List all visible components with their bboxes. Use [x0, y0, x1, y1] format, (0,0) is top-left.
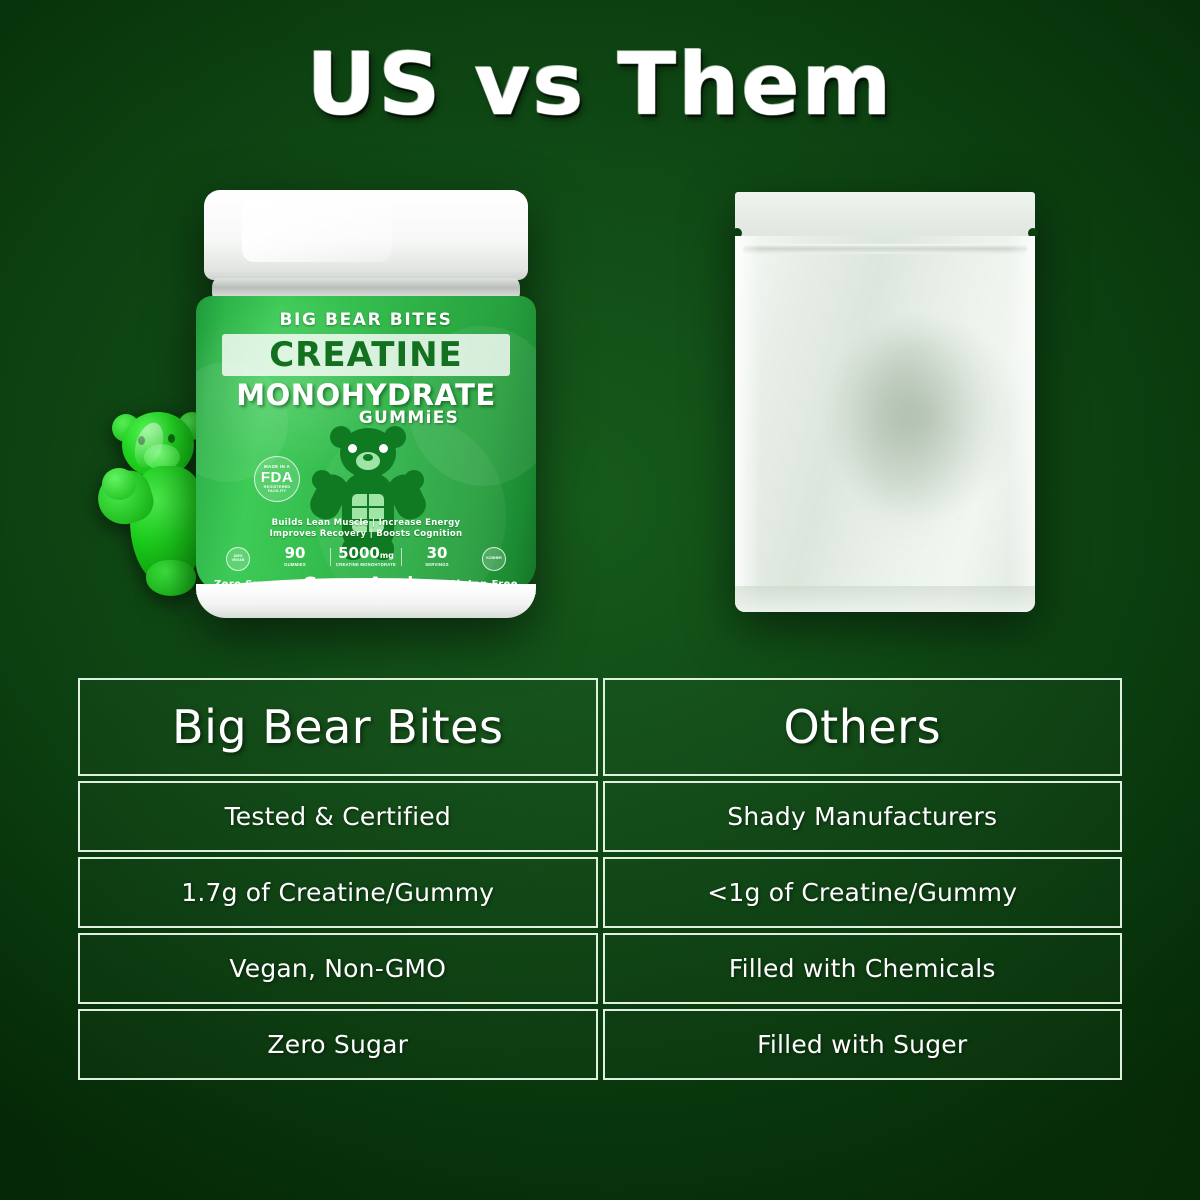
table-cell-us: Zero Sugar: [78, 1009, 598, 1080]
mascot-nose: [363, 454, 373, 461]
pouch-zipper: [743, 244, 1027, 254]
pouch-top-seal: [735, 192, 1035, 236]
gummy-fist: [102, 468, 136, 500]
mascot-eye-left: [348, 444, 357, 453]
spec-servings-caption: SERVINGS: [402, 562, 472, 567]
pouch-body: [735, 236, 1035, 612]
jar-claim-line-2: Improves Recovery | Boosts Cognition: [196, 529, 536, 540]
headline-container: US vs Them: [0, 42, 1200, 128]
table-cell-them: Filled with Suger: [603, 1009, 1123, 1080]
page-title: US vs Them: [307, 42, 894, 128]
table-cell-them: Filled with Chemicals: [603, 933, 1123, 1004]
kosher-badge-icon: KOSHER: [482, 547, 506, 571]
table-row: Zero Sugar Filled with Suger: [78, 1009, 1122, 1080]
table-cell-them: Shady Manufacturers: [603, 781, 1123, 852]
table-header-us: Big Bear Bites: [78, 678, 598, 776]
table-cell-us: 1.7g of Creatine/Gummy: [78, 857, 598, 928]
comparison-infographic: US vs Them B: [0, 0, 1200, 1200]
comparison-table: Big Bear Bites Others Tested & Certified…: [78, 678, 1122, 1082]
jar-gummies-word: GUMMiES: [196, 408, 536, 428]
spec-gummies-caption: GUMMIES: [260, 562, 330, 567]
table-row: 1.7g of Creatine/Gummy <1g of Creatine/G…: [78, 857, 1122, 928]
jar-base: [196, 584, 536, 618]
table-row: Tested & Certified Shady Manufacturers: [78, 781, 1122, 852]
spec-servings: 30 SERVINGS: [402, 546, 472, 567]
jar-claim-line-1: Builds Lean Muscle | Increase Energy: [196, 518, 536, 529]
table-header-them: Others: [603, 678, 1123, 776]
fda-badge-main: FDA: [261, 470, 293, 486]
pouch-edge-right: [1009, 236, 1035, 612]
pouch-edge-left: [735, 236, 761, 612]
pouch-bottom-gusset: [735, 586, 1035, 612]
spec-dose-caption: CREATINE MONOHYDRATE: [331, 562, 401, 567]
jar-label: BIG BEAR BITES CREATINE MONOHYDRATE GUMM…: [196, 296, 536, 592]
vegan-badge-icon: 100% VEGAN: [226, 547, 250, 571]
table-header-row: Big Bear Bites Others: [78, 678, 1122, 776]
jar-product-form: MONOHYDRATE: [196, 378, 536, 412]
table-cell-them: <1g of Creatine/Gummy: [603, 857, 1123, 928]
jar-product-name-band: CREATINE: [222, 334, 510, 376]
jar-lid-highlight: [242, 198, 392, 262]
jar-product-name: CREATINE: [269, 335, 463, 375]
spec-gummies: 90 GUMMIES: [260, 546, 330, 567]
jar-claims: Builds Lean Muscle | Increase Energy Imp…: [196, 518, 536, 541]
spec-dose-value: 5000mg: [331, 546, 401, 561]
mascot-fist-right: [404, 470, 424, 490]
pouch-shadow: [855, 336, 975, 536]
mascot-eye-right: [379, 444, 388, 453]
spec-gummies-value: 90: [260, 546, 330, 561]
mascot-fist-left: [312, 470, 332, 490]
jar-specs: 90 GUMMIES 5000mg CREATINE MONOHYDRATE 3…: [260, 546, 472, 567]
product-jar[interactable]: BIG BEAR BITES CREATINE MONOHYDRATE GUMM…: [186, 190, 546, 620]
table-cell-us: Tested & Certified: [78, 781, 598, 852]
fda-badge-icon: MADE IN A FDA REGISTERED FACILITY: [254, 456, 300, 502]
spec-dose: 5000mg CREATINE MONOHYDRATE: [331, 546, 401, 567]
gummy-eye-right: [168, 434, 175, 443]
jar-lid: [204, 190, 528, 280]
table-cell-us: Vegan, Non-GMO: [78, 933, 598, 1004]
competitor-pouch[interactable]: [735, 192, 1035, 612]
jar-brand-name: BIG BEAR BITES: [196, 310, 536, 330]
table-row: Vegan, Non-GMO Filled with Chemicals: [78, 933, 1122, 1004]
products-row: BIG BEAR BITES CREATINE MONOHYDRATE GUMM…: [0, 170, 1200, 640]
spec-servings-value: 30: [402, 546, 472, 561]
fda-badge-bottom: REGISTERED FACILITY: [255, 485, 299, 493]
